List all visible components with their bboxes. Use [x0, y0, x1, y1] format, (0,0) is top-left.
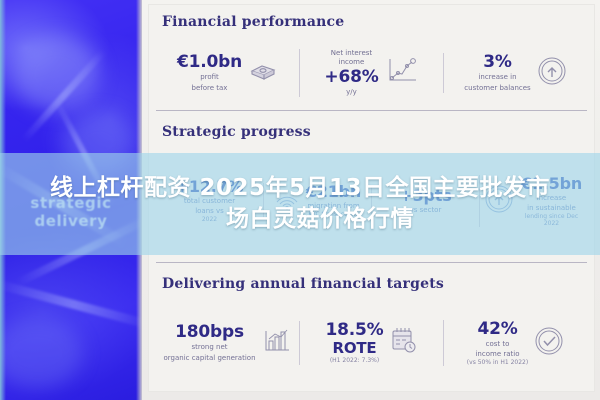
annual-targets-metric-row: 180bps strong net organic capital genera…: [156, 302, 587, 384]
metric-value: +68%: [324, 68, 378, 87]
metric-note: (H1 2022: 7.3%): [326, 358, 384, 365]
section-annual-targets: Delivering annual financial targets 180b…: [148, 268, 595, 392]
metric-value: 3%: [464, 53, 530, 72]
metric-text: 18.5% ROTE (H1 2022: 7.3%): [326, 321, 384, 365]
metric-text: 3% increase in customer balances: [464, 53, 530, 92]
section-divider: [156, 110, 587, 111]
metric-subtitle-line-2: customer balances: [464, 84, 530, 93]
metric-subtitle-line-2: income ratio: [467, 350, 528, 359]
metric-text: 180bps strong net organic capital genera…: [163, 323, 255, 362]
metric-subtitle-line-1: increase in: [464, 73, 530, 82]
line-chart-icon: [385, 56, 419, 91]
metric-subtitle-line-1: strong net: [163, 343, 255, 352]
section-title-strategic-progress: Strategic progress: [162, 124, 311, 140]
metric-rote: 18.5% ROTE (H1 2022: 7.3%): [299, 321, 443, 365]
section-divider: [156, 262, 587, 263]
metric-text: Net interestincome +68% y/y: [324, 49, 378, 97]
financial-metric-row: €1.0bn profit before tax: [156, 40, 587, 106]
metric-label: Net interestincome: [324, 49, 378, 67]
metric-subtitle-line-1: cost to: [467, 340, 528, 349]
section-title-annual-targets: Delivering annual financial targets: [162, 276, 444, 292]
bar-chart-icon: [262, 327, 292, 360]
metric-subtitle-line-1: profit: [177, 73, 242, 82]
banknotes-icon: [248, 59, 278, 88]
metric-organic-capital-generation: 180bps strong net organic capital genera…: [156, 323, 299, 362]
overlay-caption-line-1: 线上杠杆配资 2025年5月13日全国主要批发市: [50, 176, 550, 201]
overlay-caption: 线上杠杆配资 2025年5月13日全国主要批发市 场白灵菇价格行情: [0, 153, 600, 255]
arrow-up-circle-icon: [537, 56, 567, 91]
section-financial-performance: Financial performance €1.0bn profit befo…: [148, 4, 595, 116]
metric-value-label: ROTE: [326, 340, 384, 357]
metric-note: (vs 50% in H1 2022): [467, 360, 528, 367]
calendar-clock-icon: [389, 325, 417, 360]
section-title-financial-performance: Financial performance: [162, 14, 344, 30]
metric-text: €1.0bn profit before tax: [177, 53, 242, 92]
metric-value: €1.0bn: [177, 53, 242, 72]
metric-profit-before-tax: €1.0bn profit before tax: [156, 53, 299, 92]
metric-value: 180bps: [163, 323, 255, 342]
metric-cost-to-income-ratio: 42% cost to income ratio (vs 50% in H1 2…: [443, 320, 587, 367]
screenshot-root: strategic delivery Financial performance…: [0, 0, 600, 400]
metric-text: 42% cost to income ratio (vs 50% in H1 2…: [467, 320, 528, 367]
check-circle-icon: [534, 326, 564, 361]
metric-subtitle-line-2: before tax: [177, 84, 242, 93]
metric-value: 18.5%: [326, 321, 384, 340]
overlay-caption-line-2: 场白灵菇价格行情: [226, 207, 414, 232]
metric-subtitle-line-2: organic capital generation: [163, 354, 255, 363]
metric-value: 42%: [467, 320, 528, 339]
metric-net-interest-income: Net interestincome +68% y/y: [299, 49, 443, 97]
metric-subtitle-line-1: y/y: [324, 88, 378, 97]
metric-customer-balances: 3% increase in customer balances: [443, 53, 587, 92]
